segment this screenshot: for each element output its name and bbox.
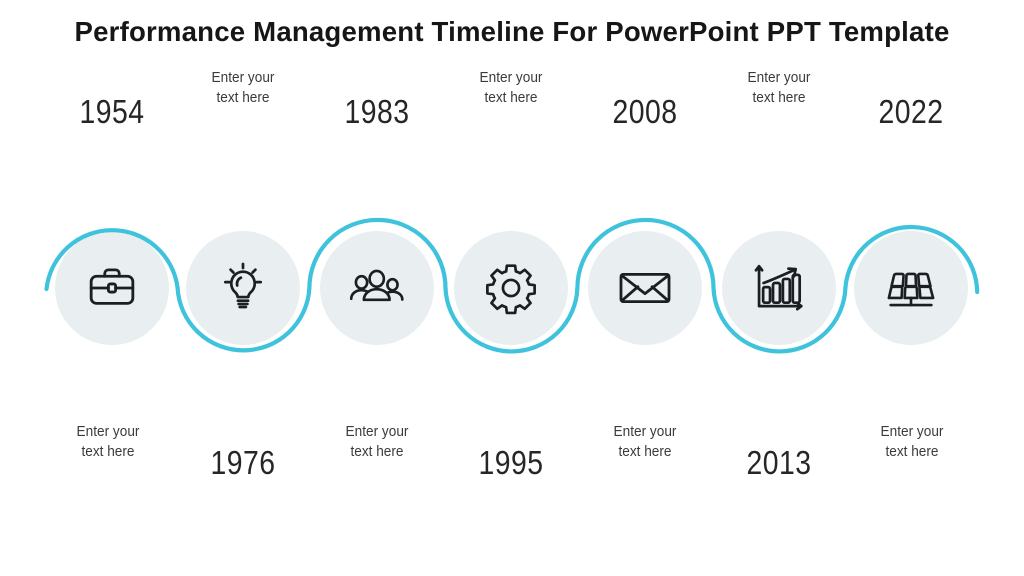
timeline-top-label-6-line2: text here (713, 88, 845, 108)
timeline-bottom-label-1: Enter your text here (42, 422, 174, 462)
timeline-top-label-4-line1: Enter your (480, 70, 543, 86)
timeline-bottom-label-5-line2: text here (579, 442, 711, 462)
timeline-bottom-label-3: Enter your text here (311, 422, 443, 462)
timeline-top-label-6-line1: Enter your (748, 70, 811, 86)
timeline-top-label-4-line2: text here (445, 88, 577, 108)
timeline-bottom-label-4: 1995 (451, 444, 571, 482)
timeline-bottom-label-1-line1: Enter your (77, 424, 140, 440)
timeline-top-label-4: Enter your text here (445, 68, 577, 108)
timeline-stage: 1954 Enter your text here 1983 Enter you… (0, 0, 1024, 576)
timeline-bottom-label-7: Enter your text here (846, 422, 978, 462)
timeline-top-label-2-line2: text here (177, 88, 309, 108)
timeline-top-label-2: Enter your text here (177, 68, 309, 108)
timeline-top-label-2-line1: Enter your (212, 70, 275, 86)
timeline-top-label-3: 1983 (317, 93, 437, 131)
timeline-bottom-label-7-line1: Enter your (881, 424, 944, 440)
timeline-bottom-label-2: 1976 (183, 444, 303, 482)
timeline-bottom-label-7-line2: text here (846, 442, 978, 462)
timeline-top-label-5: 2008 (585, 93, 705, 131)
slide-canvas: Performance Management Timeline For Powe… (0, 0, 1024, 576)
timeline-top-label-6: Enter your text here (713, 68, 845, 108)
timeline-bottom-label-1-line2: text here (42, 442, 174, 462)
timeline-bottom-label-5: Enter your text here (579, 422, 711, 462)
timeline-bottom-label-3-line2: text here (311, 442, 443, 462)
timeline-bottom-label-5-line1: Enter your (614, 424, 677, 440)
timeline-bottom-label-3-line1: Enter your (346, 424, 409, 440)
timeline-top-label-1: 1954 (52, 93, 172, 131)
timeline-bottom-label-6: 2013 (719, 444, 839, 482)
timeline-top-label-7: 2022 (851, 93, 971, 131)
timeline-labels: 1954 Enter your text here 1983 Enter you… (0, 0, 1024, 576)
